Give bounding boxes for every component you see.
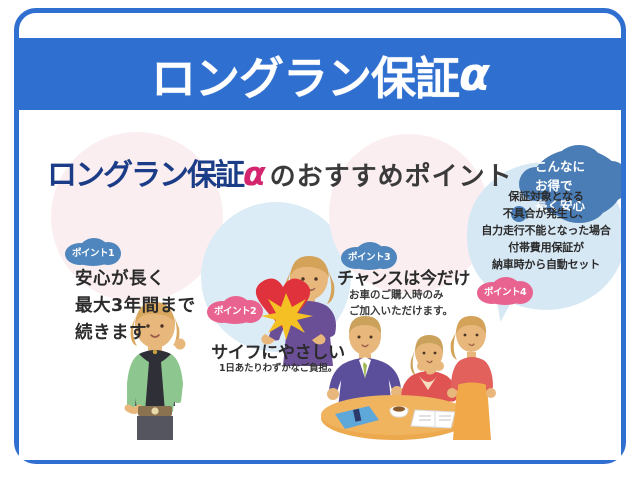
point2-subtext: 1日あたりわずかなご負担。 [203, 360, 353, 374]
woman-orange-dress-illustration [443, 308, 501, 440]
point4-badge-label: ポイント4 [477, 284, 533, 298]
point3-subtext: お車のご購入時のみご加入いただけます。 [349, 288, 453, 320]
title-band: ロングラン保証α [19, 38, 621, 110]
subtitle: ロングラン保証αのおすすめポイント [47, 150, 513, 194]
point4-badge: ポイント4 [477, 277, 533, 305]
point1-badge: ポイント1 [65, 238, 121, 266]
subtitle-alpha: α [243, 154, 266, 193]
point3-badge-label: ポイント3 [341, 249, 397, 263]
subtitle-brand: ロングラン保証 [47, 158, 243, 193]
point4-heading: 保証対象となる不具合が発生し、自力走行不能となった場合付帯費用保証が納車時から自… [467, 188, 621, 273]
callout-line-1: こんなに [535, 157, 621, 176]
promotional-poster: ロングラン保証α ロングラン保証αのおすすめポイント こんなに お得で 長く安心 [0, 0, 640, 480]
point2-badge: ポイント2 [207, 296, 263, 324]
page-title-alpha: α [459, 48, 489, 101]
point1-heading: 安心が長く最大3年間まで続きます [75, 266, 196, 347]
poster-body: ロングラン保証αのおすすめポイント こんなに お得で 長く安心 [19, 112, 621, 460]
point2-badge-label: ポイント2 [207, 303, 263, 317]
point3-badge: ポイント3 [341, 242, 397, 270]
page-title: ロングラン保証 [151, 42, 459, 107]
point1-badge-label: ポイント1 [65, 245, 121, 259]
